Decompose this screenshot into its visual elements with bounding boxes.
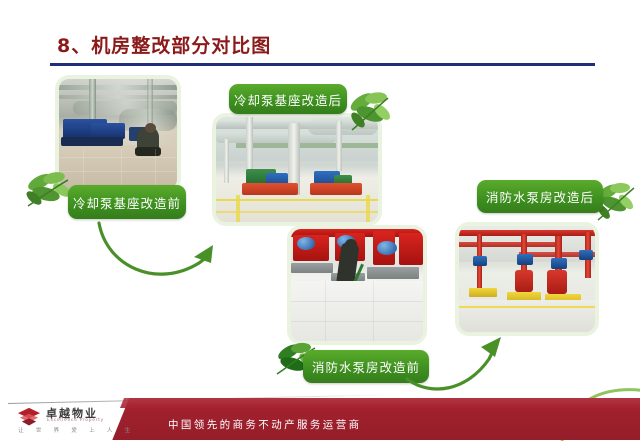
- logo-tagline: 让 世 界 爱 上 人 生: [18, 426, 135, 434]
- diamond-logo-icon: [16, 407, 42, 427]
- photo-after-cooling[interactable]: [216, 117, 378, 222]
- slide-canvas: 8、机房整改部分对比图: [0, 0, 640, 440]
- photo-after-fire-image: [459, 226, 595, 332]
- label-after-cooling[interactable]: 冷却泵基座改造后: [229, 84, 347, 114]
- photo-after-fire[interactable]: [459, 226, 595, 332]
- arrow-cooling-before-to-after: [95, 205, 235, 295]
- footer-banner-highlight: [120, 398, 640, 408]
- label-after-fire[interactable]: 消防水泵房改造后: [477, 180, 603, 213]
- photo-before-cooling-image: [59, 79, 177, 189]
- photo-before-cooling[interactable]: [59, 79, 177, 189]
- title-underline: [50, 63, 595, 66]
- photo-before-fire-image: [291, 229, 423, 341]
- page-title: 8、机房整改部分对比图: [57, 31, 271, 58]
- company-logo: 卓越物业 Excellence Property 让 世 界 爱 上 人 生: [16, 403, 112, 437]
- photo-before-fire[interactable]: [291, 229, 423, 341]
- photo-after-cooling-image: [216, 117, 378, 222]
- logo-company-name-en: Excellence Property: [47, 418, 104, 423]
- footer-slogan: 中国领先的商务不动产服务运营商: [168, 417, 362, 432]
